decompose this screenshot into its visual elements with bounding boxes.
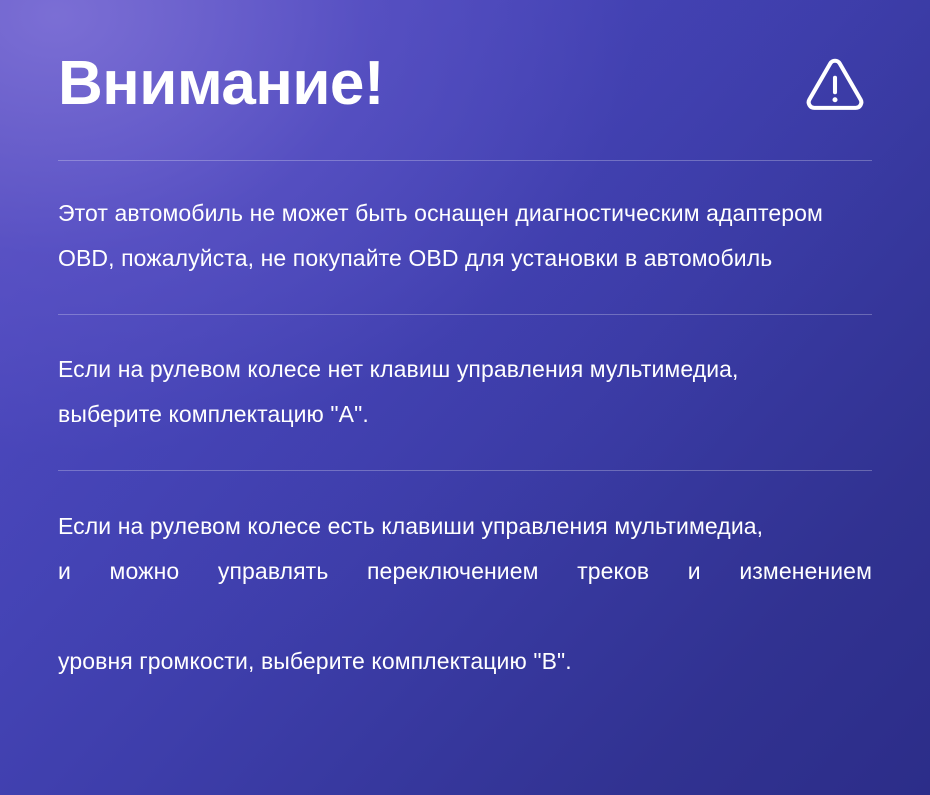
notice-body: Этот автомобиль не может быть оснащен ди… [58, 161, 872, 684]
notice-text-option-b-line-2: и можно управлять переключением треков и… [58, 549, 872, 639]
notice-text-option-a-line-2: выберите комплектацию "A". [58, 392, 872, 437]
notice-block-obd-warning: Этот автомобиль не может быть оснащен ди… [58, 161, 872, 314]
notice-text-option-a-line-1: Если на рулевом колесе нет клавиш управл… [58, 347, 872, 392]
notice-text-obd-warning: Этот автомобиль не может быть оснащен ди… [58, 191, 872, 281]
notice-block-trim-option-a: Если на рулевом колесе нет клавиш управл… [58, 315, 872, 470]
notice-block-trim-option-b: Если на рулевом колесе есть клавиши упра… [58, 471, 872, 684]
page-title: Внимание! [58, 53, 384, 115]
warning-notice-card: Внимание! Этот автомобиль не может быть … [0, 0, 930, 795]
warning-triangle-icon [804, 54, 866, 116]
notice-header: Внимание! [58, 0, 872, 160]
notice-text-option-b-line-3: уровня громкости, выберите комплектацию … [58, 639, 872, 684]
notice-text-option-b-line-1: Если на рулевом колесе есть клавиши упра… [58, 504, 872, 549]
